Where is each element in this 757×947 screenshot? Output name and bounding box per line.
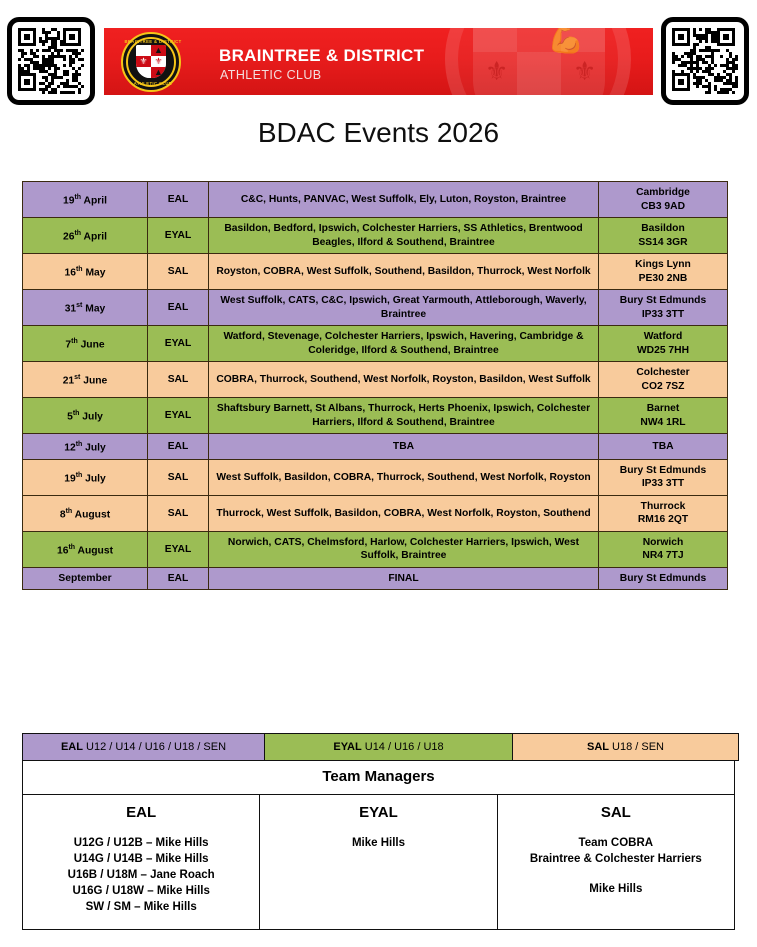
table-row: 8th AugustSALThurrock, West Suffolk, Bas…	[23, 495, 728, 531]
event-date: 16th May	[23, 254, 148, 290]
event-clubs: Watford, Stevenage, Colchester Harriers,…	[209, 326, 599, 362]
table-row: 16th MaySALRoyston, COBRA, West Suffolk,…	[23, 254, 728, 290]
event-venue: BasildonSS14 3GR	[599, 218, 728, 254]
table-row: 16th AugustEYALNorwich, CATS, Chelmsford…	[23, 531, 728, 567]
event-clubs: Shaftsbury Barnett, St Albans, Thurrock,…	[209, 398, 599, 434]
qr-code-left[interactable]	[7, 17, 95, 105]
legend-eal-code: EAL	[61, 741, 83, 753]
event-date: 21st June	[23, 362, 148, 398]
legend-item-sal: SAL U18 / SEN	[513, 734, 739, 761]
event-clubs: West Suffolk, Basildon, COBRA, Thurrock,…	[209, 459, 599, 495]
event-date: 26th April	[23, 218, 148, 254]
event-league: EAL	[148, 434, 209, 460]
team-managers-heading: Team Managers	[23, 761, 735, 795]
team-managers-table: Team Managers EALU12G / U12B – Mike Hill…	[22, 760, 735, 930]
table-row: 12th JulyEALTBATBA	[23, 434, 728, 460]
event-venue: TBA	[599, 434, 728, 460]
event-venue: Bury St EdmundsIP33 3TT	[599, 290, 728, 326]
manager-column-title: EYAL	[264, 804, 492, 821]
table-row: 19th AprilEALC&C, Hunts, PANVAC, West Su…	[23, 182, 728, 218]
event-venue: Kings LynnPE30 2NB	[599, 254, 728, 290]
table-row: 5th JulyEYALShaftsbury Barnett, St Alban…	[23, 398, 728, 434]
table-row: SeptemberEALFINALBury St Edmunds	[23, 567, 728, 590]
event-league: EAL	[148, 182, 209, 218]
team-managers-body-row: EALU12G / U12B – Mike HillsU14G / U14B –…	[23, 795, 735, 930]
manager-line: U12G / U12B – Mike Hills	[27, 835, 255, 851]
page-header: 💪 ⚜ ⚜ BRAINTREE & DISTRICT ATHLETIC CLUB…	[0, 0, 757, 112]
manager-spacer	[502, 867, 730, 881]
event-date: 8th August	[23, 495, 148, 531]
manager-column-title: SAL	[502, 804, 730, 821]
event-league: EYAL	[148, 326, 209, 362]
events-table-body: 19th AprilEALC&C, Hunts, PANVAC, West Su…	[23, 182, 728, 590]
event-clubs: West Suffolk, CATS, C&C, Ipswich, Great …	[209, 290, 599, 326]
logo-runner-icon-2: ▲	[151, 67, 166, 78]
event-venue: WatfordWD25 7HH	[599, 326, 728, 362]
event-league: EAL	[148, 290, 209, 326]
manager-column: EYALMike Hills	[260, 795, 497, 930]
legend-item-eyal: EYAL U14 / U16 / U18	[265, 734, 513, 761]
legend-eal-ages: U12 / U14 / U16 / U18 / SEN	[83, 741, 226, 753]
logo-fleur-icon-left: ⚜	[136, 56, 151, 67]
manager-line: Mike Hills	[264, 835, 492, 851]
manager-line: U16B / U18M – Jane Roach	[27, 867, 255, 883]
manager-column-title: EAL	[27, 804, 255, 821]
event-date: 7th June	[23, 326, 148, 362]
table-row: 31st MayEALWest Suffolk, CATS, C&C, Ipsw…	[23, 290, 728, 326]
event-clubs: C&C, Hunts, PANVAC, West Suffolk, Ely, L…	[209, 182, 599, 218]
manager-line: U14G / U14B – Mike Hills	[27, 851, 255, 867]
event-league: SAL	[148, 459, 209, 495]
events-table: 19th AprilEALC&C, Hunts, PANVAC, West Su…	[22, 181, 728, 590]
event-date: 19th April	[23, 182, 148, 218]
event-clubs: FINAL	[209, 567, 599, 590]
event-clubs: Basildon, Bedford, Ipswich, Colchester H…	[209, 218, 599, 254]
event-date: 12th July	[23, 434, 148, 460]
legend-and-managers: EAL U12 / U14 / U16 / U18 / SEN EYAL U14…	[22, 733, 735, 930]
club-banner: 💪 ⚜ ⚜ BRAINTREE & DISTRICT ATHLETIC CLUB…	[104, 28, 653, 95]
manager-line: Mike Hills	[502, 881, 730, 897]
logo-shield: ▲ ⚜ ⚜ ▲	[136, 45, 166, 78]
event-league: SAL	[148, 495, 209, 531]
club-subtitle: ATHLETIC CLUB	[220, 68, 322, 82]
league-legend: EAL U12 / U14 / U16 / U18 / SEN EYAL U14…	[22, 733, 739, 761]
table-row: 21st JuneSALCOBRA, Thurrock, Southend, W…	[23, 362, 728, 398]
event-clubs: Norwich, CATS, Chelmsford, Harlow, Colch…	[209, 531, 599, 567]
manager-line: Braintree & Colchester Harriers	[502, 851, 730, 867]
legend-sal-ages: U18 / SEN	[609, 741, 664, 753]
event-venue: Bury St Edmunds	[599, 567, 728, 590]
event-date: 16th August	[23, 531, 148, 567]
event-date: 31st May	[23, 290, 148, 326]
table-row: 19th JulySALWest Suffolk, Basildon, COBR…	[23, 459, 728, 495]
event-clubs: TBA	[209, 434, 599, 460]
event-clubs: COBRA, Thurrock, Southend, West Norfolk,…	[209, 362, 599, 398]
watermark-fleur-icon-left: ⚜	[485, 58, 508, 84]
club-logo: BRAINTREE & DISTRICT ATHLETIC CLUB ▲ ⚜ ⚜…	[121, 32, 181, 92]
qr-code-right[interactable]	[661, 17, 749, 105]
event-venue: Bury St EdmundsIP33 3TT	[599, 459, 728, 495]
watermark-fleur-icon-right: ⚜	[573, 58, 596, 84]
legend-row: EAL U12 / U14 / U16 / U18 / SEN EYAL U14…	[23, 734, 739, 761]
event-date: 5th July	[23, 398, 148, 434]
legend-eyal-code: EYAL	[333, 741, 361, 753]
event-league: SAL	[148, 362, 209, 398]
event-venue: BarnetNW4 1RL	[599, 398, 728, 434]
legend-sal-code: SAL	[587, 741, 609, 753]
manager-column: EALU12G / U12B – Mike HillsU14G / U14B –…	[23, 795, 260, 930]
event-date: September	[23, 567, 148, 590]
event-league: EYAL	[148, 398, 209, 434]
manager-line: SW / SM – Mike Hills	[27, 899, 255, 915]
banner-watermark-shield: 💪 ⚜ ⚜	[473, 28, 605, 95]
club-name: BRAINTREE & DISTRICT	[219, 46, 424, 66]
logo-fleur-icon-right: ⚜	[151, 56, 166, 67]
logo-top-text: BRAINTREE & DISTRICT	[123, 39, 183, 44]
event-league: EYAL	[148, 531, 209, 567]
event-date: 19th July	[23, 459, 148, 495]
event-venue: NorwichNR4 7TJ	[599, 531, 728, 567]
page-title: BDAC Events 2026	[0, 117, 757, 149]
event-clubs: Royston, COBRA, West Suffolk, Southend, …	[209, 254, 599, 290]
event-league: EYAL	[148, 218, 209, 254]
table-row: 7th JuneEYALWatford, Stevenage, Colchest…	[23, 326, 728, 362]
manager-line: U16G / U18W – Mike Hills	[27, 883, 255, 899]
event-venue: ThurrockRM16 2QT	[599, 495, 728, 531]
logo-bottom-text: ATHLETIC CLUB	[123, 81, 183, 86]
event-league: SAL	[148, 254, 209, 290]
event-clubs: Thurrock, West Suffolk, Basildon, COBRA,…	[209, 495, 599, 531]
watermark-runner-icon: 💪	[547, 28, 573, 56]
event-league: EAL	[148, 567, 209, 590]
manager-line: Team COBRA	[502, 835, 730, 851]
event-venue: CambridgeCB3 9AD	[599, 182, 728, 218]
qr-code-right-pattern	[672, 28, 738, 94]
legend-eyal-ages: U14 / U16 / U18	[362, 741, 444, 753]
table-row: 26th AprilEYALBasildon, Bedford, Ipswich…	[23, 218, 728, 254]
event-venue: ColchesterCO2 7SZ	[599, 362, 728, 398]
manager-column: SALTeam COBRABraintree & Colchester Harr…	[497, 795, 734, 930]
team-managers-heading-row: Team Managers	[23, 761, 735, 795]
logo-runner-icon: ▲	[151, 45, 166, 56]
qr-code-left-pattern	[18, 28, 84, 94]
legend-item-eal: EAL U12 / U14 / U16 / U18 / SEN	[23, 734, 265, 761]
